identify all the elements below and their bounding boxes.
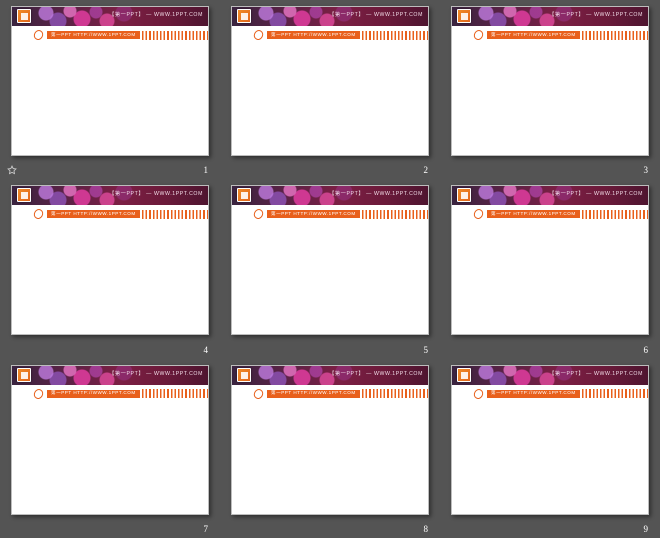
footer-url: 第一PPT HTTP://WWW.1PPT.COM [47, 390, 140, 398]
slide-4[interactable]: 【第一PPT】 — WWW.1PPT.COM 点击添加文字内容 单击此处添加文本… [11, 185, 209, 335]
header-watermark: 【第一PPT】 — WWW.1PPT.COM [329, 370, 423, 377]
slide-header-bar: 【第一PPT】 — WWW.1PPT.COM [232, 186, 428, 205]
footer-stripes [362, 210, 428, 219]
footer-stripes [582, 210, 648, 219]
slide-header-bar: 【第一PPT】 — WWW.1PPT.COM [232, 7, 428, 26]
favorite-star-icon[interactable] [7, 165, 17, 175]
footer-url: 第一PPT HTTP://WWW.1PPT.COM [267, 210, 360, 218]
page-number: 7 [204, 524, 209, 534]
slide-header-bar: 【第一PPT】 — WWW.1PPT.COM [452, 366, 648, 385]
powerpoint-logo-icon [237, 188, 251, 202]
header-watermark: 【第一PPT】 — WWW.1PPT.COM [549, 190, 643, 197]
slide-cell-3[interactable]: 【第一PPT】 — WWW.1PPT.COM 01 公司简介介绍 Company… [440, 0, 660, 179]
powerpoint-logo-icon [17, 188, 31, 202]
slide-header-bar: 【第一PPT】 — WWW.1PPT.COM [12, 366, 208, 385]
footer-stripes [362, 389, 428, 398]
slide-footer-bar: 第一PPT HTTP://WWW.1PPT.COM [452, 205, 648, 223]
slide-header-bar: 【第一PPT】 — WWW.1PPT.COM [12, 186, 208, 205]
footer-stripes [142, 31, 208, 40]
footer-url: 第一PPT HTTP://WWW.1PPT.COM [487, 390, 580, 398]
slide-footer-bar: 第一PPT HTTP://WWW.1PPT.COM [452, 385, 648, 403]
powerpoint-logo-icon [457, 188, 471, 202]
page-number: 9 [644, 524, 649, 534]
slide-cell-8[interactable]: 【第一PPT】 — WWW.1PPT.COM 02 公司业务介绍 Company… [220, 359, 440, 538]
paperclip-icon [32, 208, 45, 221]
slide-2[interactable]: 【第一PPT】 — WWW.1PPT.COM CONTENTS 01 点击添加文… [231, 6, 429, 156]
paperclip-icon [472, 28, 485, 41]
footer-url: 第一PPT HTTP://WWW.1PPT.COM [487, 31, 580, 39]
slide-footer-bar: 第一PPT HTTP://WWW.1PPT.COM [232, 26, 428, 44]
powerpoint-logo-icon [237, 9, 251, 23]
slide-footer-bar: 第一PPT HTTP://WWW.1PPT.COM [12, 385, 208, 403]
footer-stripes [362, 31, 428, 40]
header-watermark: 【第一PPT】 — WWW.1PPT.COM [549, 370, 643, 377]
footer-url: 第一PPT HTTP://WWW.1PPT.COM [47, 210, 140, 218]
powerpoint-logo-icon [457, 9, 471, 23]
paperclip-icon [252, 387, 265, 400]
slide-header-bar: 【第一PPT】 — WWW.1PPT.COM [12, 7, 208, 26]
slide-cell-1[interactable]: 【第一PPT】 — WWW.1PPT.COM 2 0 1 9 微立体创业商业融资… [0, 0, 220, 179]
slide-header-bar: 【第一PPT】 — WWW.1PPT.COM [232, 366, 428, 385]
slide-header-bar: 【第一PPT】 — WWW.1PPT.COM [452, 7, 648, 26]
slide-5[interactable]: 【第一PPT】 — WWW.1PPT.COM 点击添加文字内容 单击此处添加文本… [231, 185, 429, 335]
header-watermark: 【第一PPT】 — WWW.1PPT.COM [109, 370, 203, 377]
slide-3[interactable]: 【第一PPT】 — WWW.1PPT.COM 01 公司简介介绍 Company… [451, 6, 649, 156]
footer-url: 第一PPT HTTP://WWW.1PPT.COM [487, 210, 580, 218]
slide-cell-5[interactable]: 【第一PPT】 — WWW.1PPT.COM 点击添加文字内容 单击此处添加文本… [220, 179, 440, 358]
paperclip-icon [252, 208, 265, 221]
footer-stripes [582, 389, 648, 398]
slide-thumbnail-grid: 【第一PPT】 — WWW.1PPT.COM 2 0 1 9 微立体创业商业融资… [0, 0, 660, 538]
footer-stripes [142, 210, 208, 219]
paperclip-icon [252, 28, 265, 41]
header-watermark: 【第一PPT】 — WWW.1PPT.COM [549, 11, 643, 18]
footer-url: 第一PPT HTTP://WWW.1PPT.COM [267, 390, 360, 398]
slide-1[interactable]: 【第一PPT】 — WWW.1PPT.COM 2 0 1 9 微立体创业商业融资… [11, 6, 209, 156]
powerpoint-logo-icon [17, 368, 31, 382]
footer-url: 第一PPT HTTP://WWW.1PPT.COM [267, 31, 360, 39]
page-number: 8 [424, 524, 429, 534]
slide-header-bar: 【第一PPT】 — WWW.1PPT.COM [452, 186, 648, 205]
slide-cell-4[interactable]: 【第一PPT】 — WWW.1PPT.COM 点击添加文字内容 单击此处添加文本… [0, 179, 220, 358]
footer-stripes [142, 389, 208, 398]
page-number: 1 [204, 165, 209, 175]
slide-9[interactable]: 【第一PPT】 — WWW.1PPT.COM 点击添加文字内容 单击此处添加文本… [451, 365, 649, 515]
footer-stripes [582, 31, 648, 40]
paperclip-icon [32, 387, 45, 400]
slide-cell-9[interactable]: 【第一PPT】 — WWW.1PPT.COM 点击添加文字内容 单击此处添加文本… [440, 359, 660, 538]
header-watermark: 【第一PPT】 — WWW.1PPT.COM [109, 190, 203, 197]
powerpoint-logo-icon [17, 9, 31, 23]
footer-url: 第一PPT HTTP://WWW.1PPT.COM [47, 31, 140, 39]
paperclip-icon [472, 208, 485, 221]
page-number: 4 [204, 345, 209, 355]
slide-cell-6[interactable]: 【第一PPT】 — WWW.1PPT.COM Option 01 Option … [440, 179, 660, 358]
page-number: 6 [644, 345, 649, 355]
slide-6[interactable]: 【第一PPT】 — WWW.1PPT.COM Option 01 Option … [451, 185, 649, 335]
header-watermark: 【第一PPT】 — WWW.1PPT.COM [329, 11, 423, 18]
powerpoint-logo-icon [457, 368, 471, 382]
header-watermark: 【第一PPT】 — WWW.1PPT.COM [329, 190, 423, 197]
slide-footer-bar: 第一PPT HTTP://WWW.1PPT.COM [12, 26, 208, 44]
slide-cell-7[interactable]: 【第一PPT】 — WWW.1PPT.COM 点击添加文字内容 单击此处添加文本… [0, 359, 220, 538]
slide-footer-bar: 第一PPT HTTP://WWW.1PPT.COM [12, 205, 208, 223]
powerpoint-logo-icon [237, 368, 251, 382]
page-number: 2 [424, 165, 429, 175]
paperclip-icon [472, 387, 485, 400]
slide-7[interactable]: 【第一PPT】 — WWW.1PPT.COM 点击添加文字内容 单击此处添加文本… [11, 365, 209, 515]
slide-footer-bar: 第一PPT HTTP://WWW.1PPT.COM [452, 26, 648, 44]
paperclip-icon [32, 28, 45, 41]
slide-8[interactable]: 【第一PPT】 — WWW.1PPT.COM 02 公司业务介绍 Company… [231, 365, 429, 515]
page-number: 5 [424, 345, 429, 355]
header-watermark: 【第一PPT】 — WWW.1PPT.COM [109, 11, 203, 18]
slide-cell-2[interactable]: 【第一PPT】 — WWW.1PPT.COM CONTENTS 01 点击添加文… [220, 0, 440, 179]
slide-footer-bar: 第一PPT HTTP://WWW.1PPT.COM [232, 385, 428, 403]
slide-footer-bar: 第一PPT HTTP://WWW.1PPT.COM [232, 205, 428, 223]
page-number: 3 [644, 165, 649, 175]
